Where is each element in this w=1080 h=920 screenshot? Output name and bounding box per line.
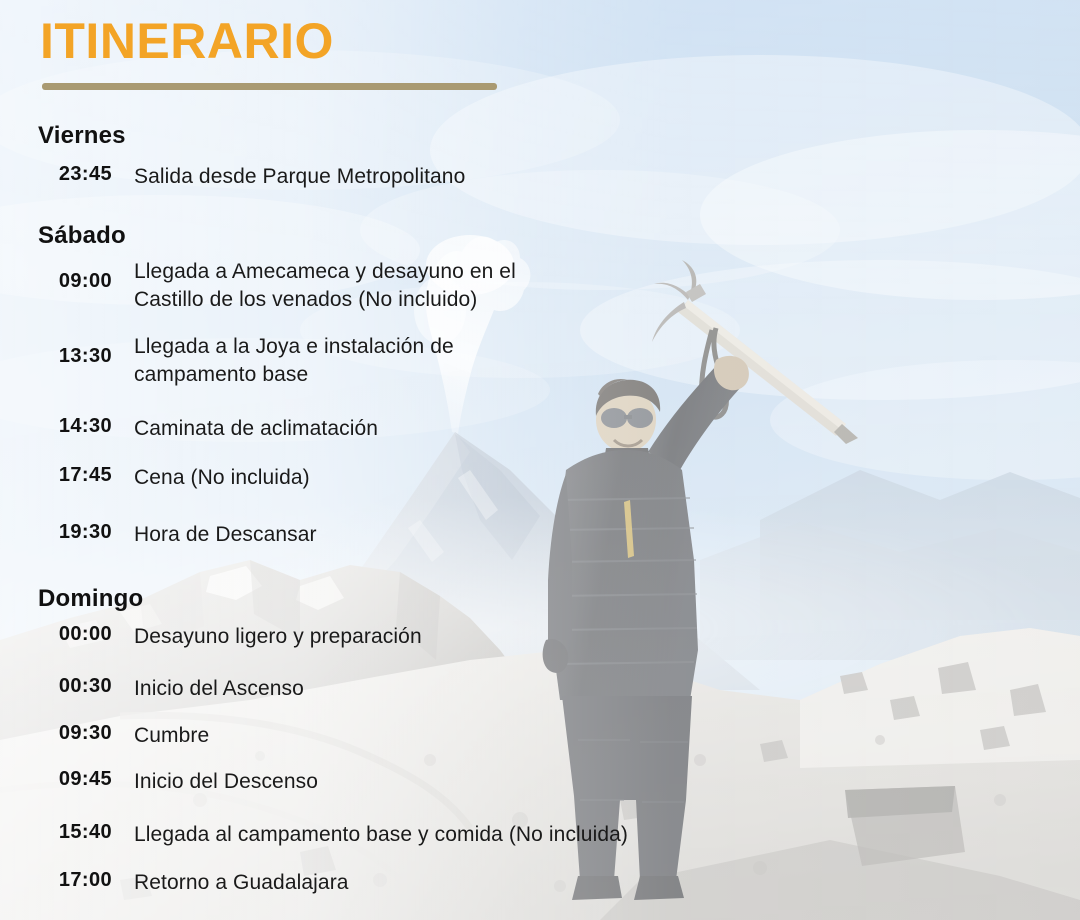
day-heading-viernes: Viernes bbox=[38, 122, 126, 150]
entry-time: 14:30 bbox=[0, 415, 112, 438]
entry-time: 19:30 bbox=[0, 521, 112, 544]
page-title: ITINERARIO bbox=[40, 16, 334, 66]
entry-description: Inicio del Ascenso bbox=[134, 675, 304, 703]
entry-description: Retorno a Guadalajara bbox=[134, 869, 349, 897]
entry-description: Inicio del Descenso bbox=[134, 768, 318, 796]
entry-time: 00:30 bbox=[0, 675, 112, 698]
entry-description: Cena (No incluida) bbox=[134, 464, 310, 492]
itinerary-poster: ITINERARIO Viernes 23:45 Salida desde Pa… bbox=[0, 0, 1080, 920]
entry-description: Hora de Descansar bbox=[134, 521, 317, 549]
entry-time: 15:40 bbox=[0, 821, 112, 844]
entry-time: 09:00 bbox=[0, 270, 112, 293]
entry-time: 00:00 bbox=[0, 623, 112, 646]
itinerary-content: ITINERARIO Viernes 23:45 Salida desde Pa… bbox=[0, 0, 1080, 920]
day-heading-sabado: Sábado bbox=[38, 222, 126, 250]
entry-description: Llegada a Amecameca y desayuno en el Cas… bbox=[134, 258, 516, 313]
entry-description: Llegada al campamento base y comida (No … bbox=[134, 821, 628, 849]
entry-time: 23:45 bbox=[0, 163, 112, 186]
entry-description: Caminata de aclimatación bbox=[134, 415, 378, 443]
entry-description: Salida desde Parque Metropolitano bbox=[134, 163, 465, 191]
entry-time: 13:30 bbox=[0, 345, 112, 368]
entry-description: Llegada a la Joya e instalación de campa… bbox=[134, 333, 454, 388]
entry-description: Desayuno ligero y preparación bbox=[134, 623, 422, 651]
entry-time: 09:45 bbox=[0, 768, 112, 791]
title-underline-rule bbox=[42, 83, 497, 90]
day-heading-domingo: Domingo bbox=[38, 585, 143, 613]
entry-time: 17:00 bbox=[0, 869, 112, 892]
entry-description: Cumbre bbox=[134, 722, 209, 750]
entry-time: 09:30 bbox=[0, 722, 112, 745]
entry-time: 17:45 bbox=[0, 464, 112, 487]
